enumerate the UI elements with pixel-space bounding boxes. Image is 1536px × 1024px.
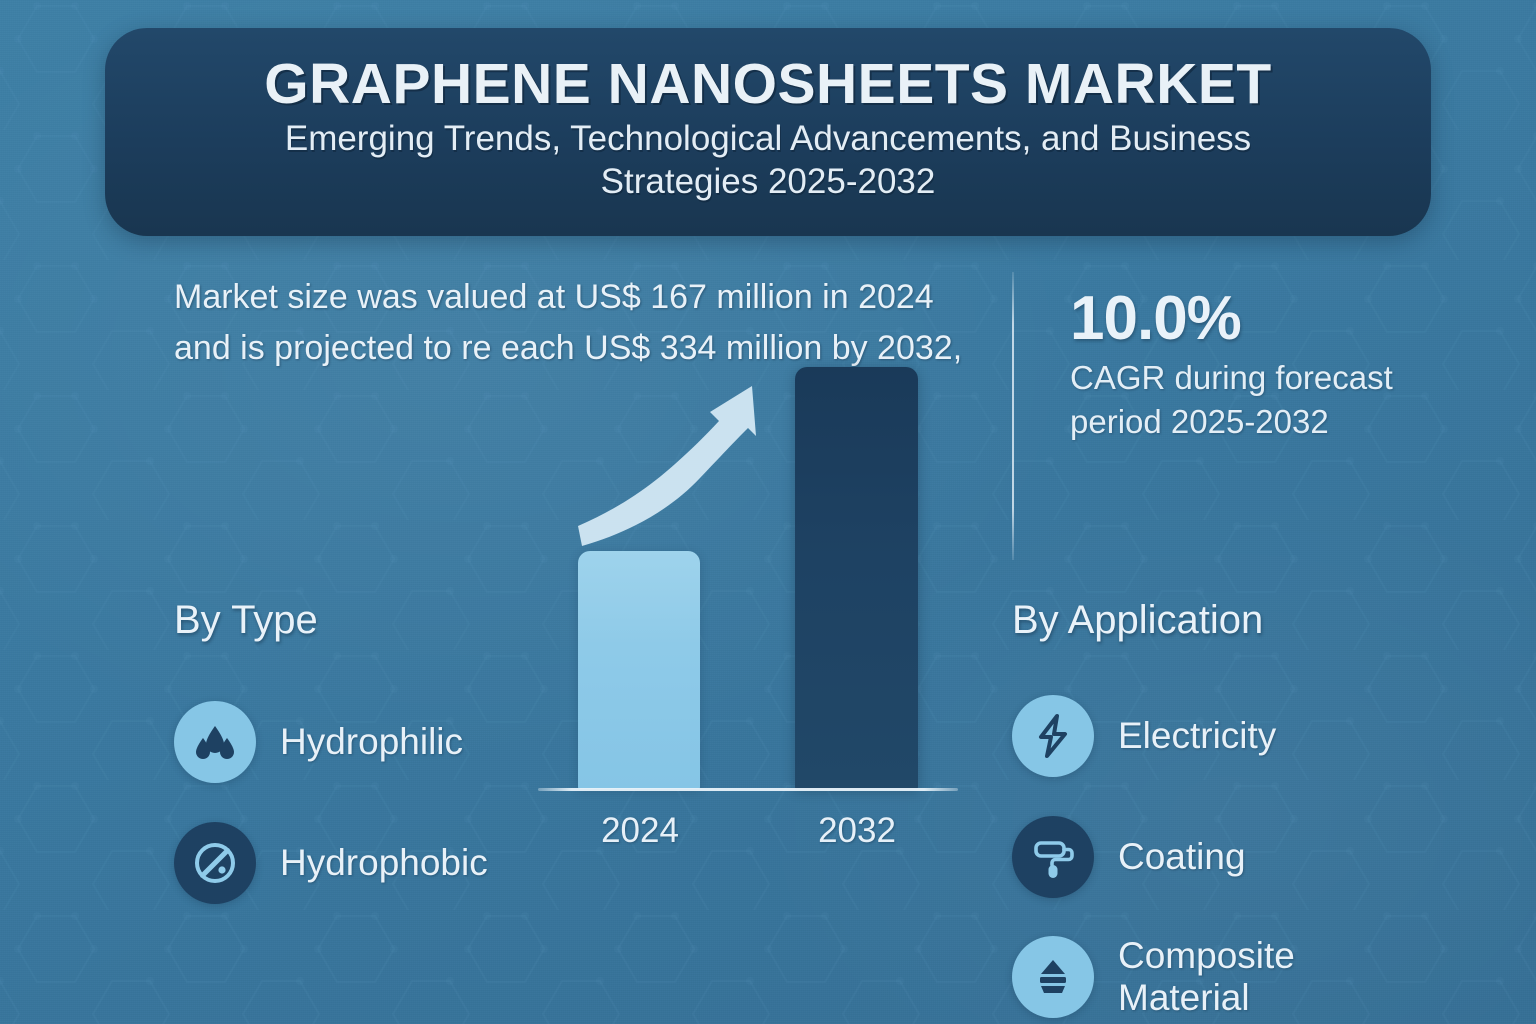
cagr-block: 10.0% CAGR during forecast period 2025-2…: [1070, 288, 1400, 443]
by-application-list: Electricity Coating: [1012, 676, 1432, 1024]
section-heading-by-type: By Type: [174, 598, 318, 643]
vertical-divider: [1012, 272, 1014, 560]
page-title: GRAPHENE NANOSHEETS MARKET: [264, 55, 1271, 114]
paint-roller-icon: [1012, 816, 1094, 898]
list-item-label: Composite Material: [1118, 935, 1432, 1019]
section-heading-by-application: By Application: [1012, 598, 1263, 643]
cagr-description: CAGR during forecast period 2025-2032: [1070, 356, 1400, 443]
layers-stack-icon: [1012, 936, 1094, 1018]
page-subtitle: Emerging Trends, Technological Advanceme…: [278, 118, 1258, 203]
bar-2032: [795, 367, 918, 789]
header-banner: GRAPHENE NANOSHEETS MARKET Emerging Tren…: [105, 28, 1431, 236]
list-item-hydrophobic[interactable]: Hydrophobic: [174, 802, 604, 924]
no-water-icon: [174, 822, 256, 904]
infographic-canvas: GRAPHENE NANOSHEETS MARKET Emerging Tren…: [0, 0, 1536, 1024]
list-item-label: Hydrophilic: [280, 721, 463, 763]
list-item-electricity[interactable]: Electricity: [1012, 676, 1432, 796]
water-drops-icon: [174, 701, 256, 783]
lightning-bolt-icon: [1012, 695, 1094, 777]
list-item-label: Hydrophobic: [280, 842, 488, 884]
list-item-hydrophilic[interactable]: Hydrophilic: [174, 682, 604, 802]
cagr-value: 10.0%: [1070, 288, 1400, 350]
by-type-list: Hydrophilic Hydrophobic: [174, 682, 604, 924]
list-item-composite-material[interactable]: Composite Material: [1012, 918, 1432, 1024]
list-item-label: Coating: [1118, 836, 1246, 878]
list-item-coating[interactable]: Coating: [1012, 796, 1432, 918]
axis-label-2032: 2032: [784, 811, 930, 851]
list-item-label: Electricity: [1118, 715, 1276, 757]
